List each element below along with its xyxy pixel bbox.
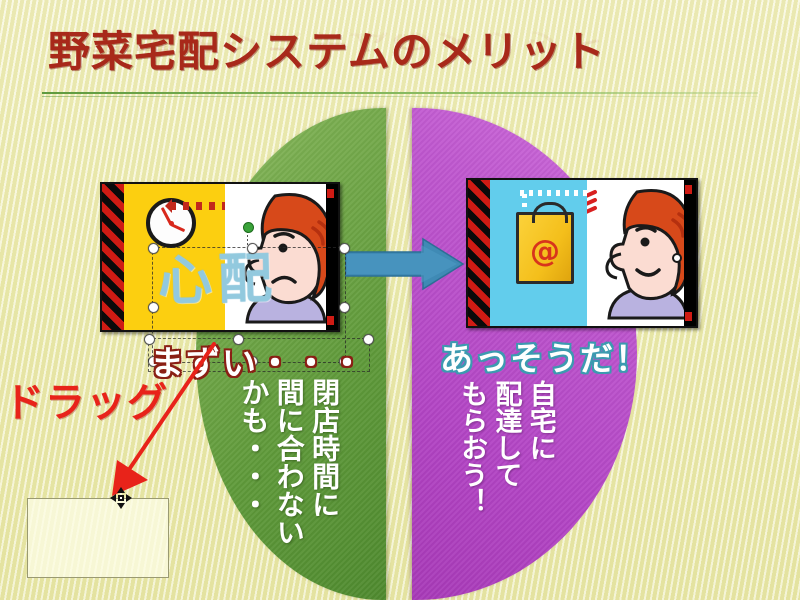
delivery-bag-illustration: @ <box>490 180 587 326</box>
film-sprocket-icon <box>327 189 334 198</box>
film-strip-band-icon <box>102 184 124 330</box>
film-strip-band-icon <box>468 180 490 326</box>
move-four-way-cursor-icon <box>110 487 132 509</box>
right-photo-scene: @ <box>490 180 684 326</box>
right-body-column-2: 配達して <box>490 380 520 515</box>
happy-woman-illustration <box>587 180 684 326</box>
excitement-lines-icon <box>587 184 603 218</box>
rotation-handle-stem <box>247 231 248 245</box>
right-body-column-1: 自宅に <box>524 380 554 515</box>
resize-handle-e[interactable] <box>339 302 350 313</box>
film-sprocket-icon <box>685 185 692 194</box>
title-divider-line-secondary <box>42 96 758 97</box>
right-body-column-3: もらおう！ <box>456 380 486 515</box>
resize-handle-ne[interactable] <box>339 243 350 254</box>
slide-canvas: 野菜宅配システムのメリット 野菜宅配システムのメリット <box>0 0 800 600</box>
bag-handle-icon <box>532 202 568 223</box>
blue-transition-arrow[interactable] <box>345 236 465 292</box>
drag-annotation-label: ドラッグ <box>4 370 168 428</box>
at-symbol: @ <box>519 237 571 267</box>
left-body-column-1: 閉店時間に <box>309 378 340 546</box>
title-divider-line <box>42 92 758 94</box>
resize-handle-w[interactable] <box>148 302 159 313</box>
left-body-column-2: 間に合わない <box>273 378 304 546</box>
resize-handle-n[interactable] <box>247 243 258 254</box>
slide-title-area[interactable]: 野菜宅配システムのメリット 野菜宅配システムのメリット <box>0 0 800 100</box>
right-headline[interactable]: あっそうだ！ <box>440 332 650 380</box>
shopping-bag-icon: @ <box>516 212 574 284</box>
page-title: 野菜宅配システムのメリット <box>48 18 606 79</box>
right-photo-frame[interactable]: @ <box>466 178 698 328</box>
clock-center-pin <box>169 221 174 226</box>
happy-woman-icon <box>593 186 684 326</box>
dotted-line-icon <box>520 190 587 196</box>
red-dotted-arrow-icon <box>170 202 225 210</box>
right-body-vertical-text[interactable]: 自宅に 配達して もらおう！ <box>456 380 555 515</box>
left-body-vertical-text[interactable]: 閉店時間に 間に合わない かも・・・ <box>238 378 340 546</box>
left-body-column-3: かも・・・ <box>238 378 269 546</box>
film-sprocket-icon <box>685 312 692 321</box>
empty-content-placeholder[interactable] <box>27 498 169 578</box>
resize-handle-nw[interactable] <box>148 243 159 254</box>
